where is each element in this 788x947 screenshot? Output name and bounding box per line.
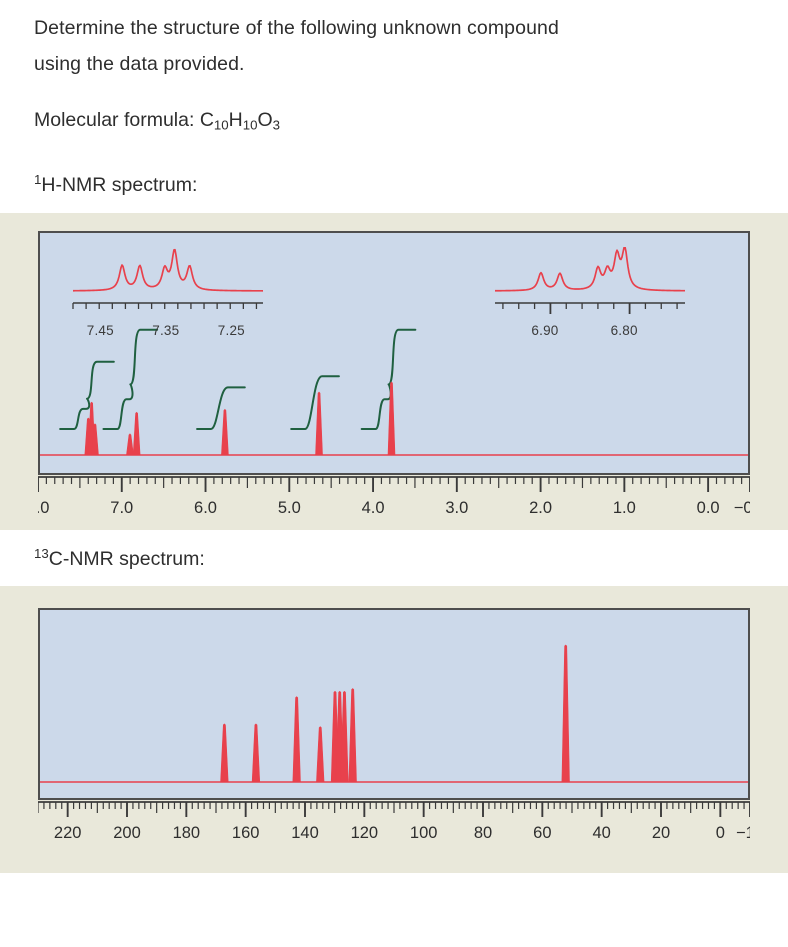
axis-tick-label: 3.0 (445, 499, 468, 517)
h-nmr-inset-right-trace (490, 247, 690, 325)
axis-tick-label: 40 (592, 824, 610, 842)
axis-tick-label: 7.0 (110, 499, 133, 517)
h-nmr-heading: 1H-NMR spectrum: (34, 162, 754, 203)
axis-tick-label: 220 (54, 824, 82, 842)
axis-tick-label: −0.5 (734, 499, 750, 517)
axis-tick-label: 0 (716, 824, 725, 842)
prompt-line-1: Determine the structure of the following… (34, 10, 754, 46)
formula-c: C (200, 109, 214, 131)
inset-tick-label: 6.80 (611, 323, 638, 338)
c-nmr-heading-block: 13C-NMR spectrum: (0, 530, 788, 577)
axis-tick-label: 180 (173, 824, 201, 842)
axis-tick-label: 5.0 (278, 499, 301, 517)
molecular-formula-line: Molecular formula: C10H10O3 (34, 102, 754, 144)
axis-tick-label: 2.0 (529, 499, 552, 517)
h-nmr-plot-area: 7.457.357.25 6.906.80 (38, 231, 750, 475)
h-nmr-axis: 8.07.06.05.04.03.02.01.00.0−0.5 (38, 475, 750, 525)
formula-h-count: 10 (243, 118, 258, 133)
h-nmr-inset-right: 6.906.80 (490, 247, 690, 359)
inset-tick-label: 6.90 (531, 323, 558, 338)
c-nmr-heading-text: C-NMR spectrum: (49, 547, 205, 569)
axis-tick-label: 0.0 (697, 499, 720, 517)
formula-o-count: 3 (273, 118, 280, 133)
problem-statement: Determine the structure of the following… (0, 0, 788, 203)
molecular-formula-label: Molecular formula: (34, 109, 194, 131)
c-nmr-heading-superscript: 13 (34, 546, 49, 561)
inset-tick-label: 7.25 (218, 323, 245, 338)
h-nmr-inset-left-trace (68, 247, 268, 325)
h-nmr-heading-text: H-NMR spectrum: (41, 174, 197, 196)
formula-h: H (229, 109, 243, 131)
c-nmr-axis: 220200180160140120100806040200−10 (38, 800, 750, 850)
inset-tick-label: 7.35 (152, 323, 179, 338)
formula-c-count: 10 (214, 118, 229, 133)
axis-tick-label: 120 (351, 824, 379, 842)
axis-tick-label: 4.0 (362, 499, 385, 517)
axis-tick-label: 8.0 (38, 499, 49, 517)
c-nmr-trace (40, 610, 748, 798)
axis-tick-label: 1.0 (613, 499, 636, 517)
inset-tick-label: 7.45 (87, 323, 114, 338)
c-nmr-heading: 13C-NMR spectrum: (34, 536, 754, 577)
axis-tick-label: 6.0 (194, 499, 217, 517)
c-nmr-spectrum-panel: 220200180160140120100806040200−10 (0, 586, 788, 873)
prompt-line-2: using the data provided. (34, 46, 754, 82)
c-nmr-plot-area (38, 608, 750, 800)
h-nmr-spectrum-panel: 7.457.357.25 6.906.80 8.07.06.05.04.03.0… (0, 213, 788, 530)
axis-tick-label: 80 (474, 824, 492, 842)
axis-tick-label: 100 (410, 824, 438, 842)
axis-tick-label: 20 (652, 824, 670, 842)
molecular-formula-value: C10H10O3 (200, 109, 280, 131)
formula-o: O (258, 109, 273, 131)
axis-tick-label: 200 (113, 824, 141, 842)
axis-tick-label: 140 (291, 824, 319, 842)
axis-tick-label: 160 (232, 824, 260, 842)
axis-tick-label: 60 (533, 824, 551, 842)
h-nmr-inset-left: 7.457.357.25 (68, 247, 268, 359)
axis-tick-label: −10 (736, 824, 750, 842)
